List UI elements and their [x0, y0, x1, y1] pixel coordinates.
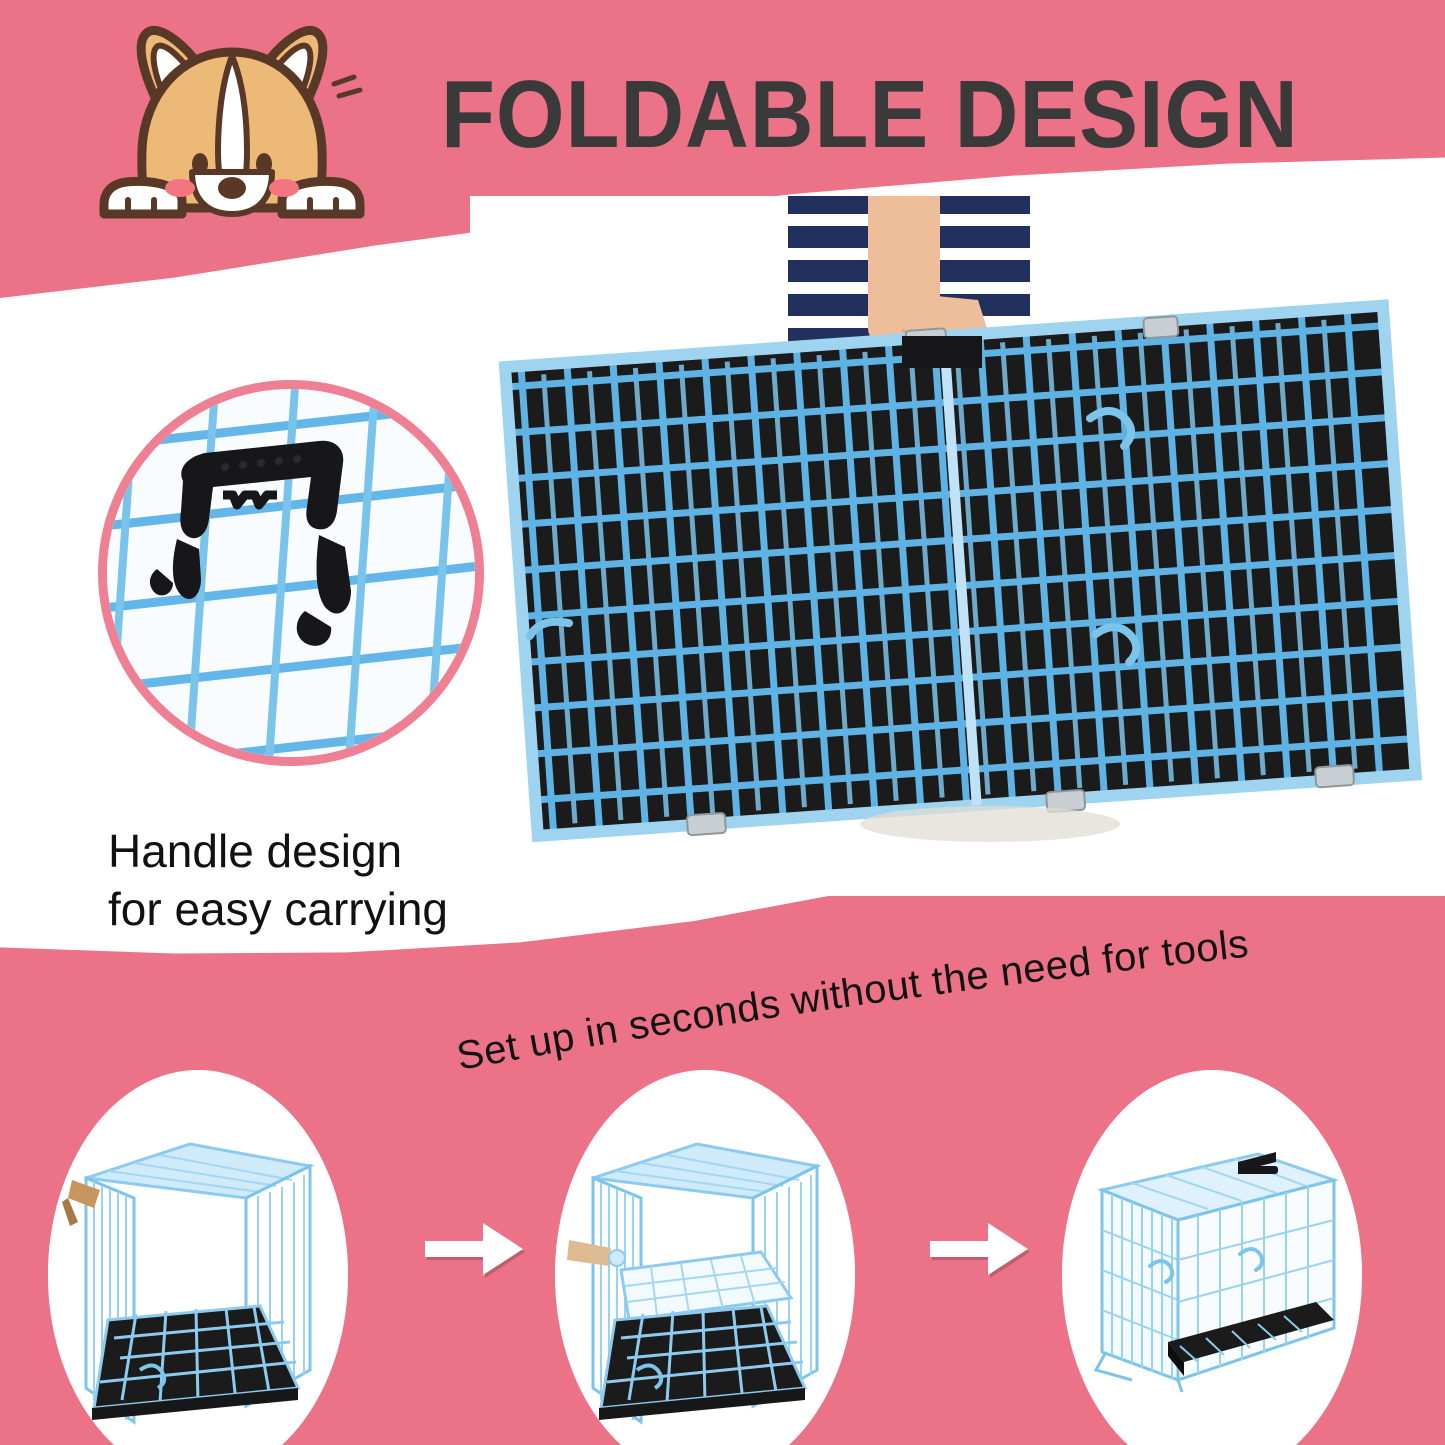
step-circle-attach-panel — [555, 1070, 855, 1445]
step-arrow-2 — [930, 1215, 1040, 1285]
page-title: FOLDABLE DESIGN — [441, 62, 1269, 168]
step-circle-assembled — [1062, 1070, 1362, 1445]
step-arrow-1 — [425, 1215, 535, 1285]
infographic-page: FOLDABLE DESIGN — [0, 0, 1445, 1445]
handle-closeup-circle — [98, 380, 484, 766]
setup-banner-text: Set up in seconds without the need for t… — [430, 930, 1445, 1090]
hero-photo-folded-crate — [470, 196, 1445, 896]
carry-handle — [902, 336, 982, 368]
step-circle-unfold — [48, 1070, 348, 1445]
handle-caption: Handle design for easy carrying — [108, 822, 538, 938]
corgi-dog-mascot — [96, 22, 368, 222]
handle-caption-line-1: Handle design — [108, 822, 538, 880]
setup-banner-label: Set up in seconds without the need for t… — [453, 930, 1251, 1079]
